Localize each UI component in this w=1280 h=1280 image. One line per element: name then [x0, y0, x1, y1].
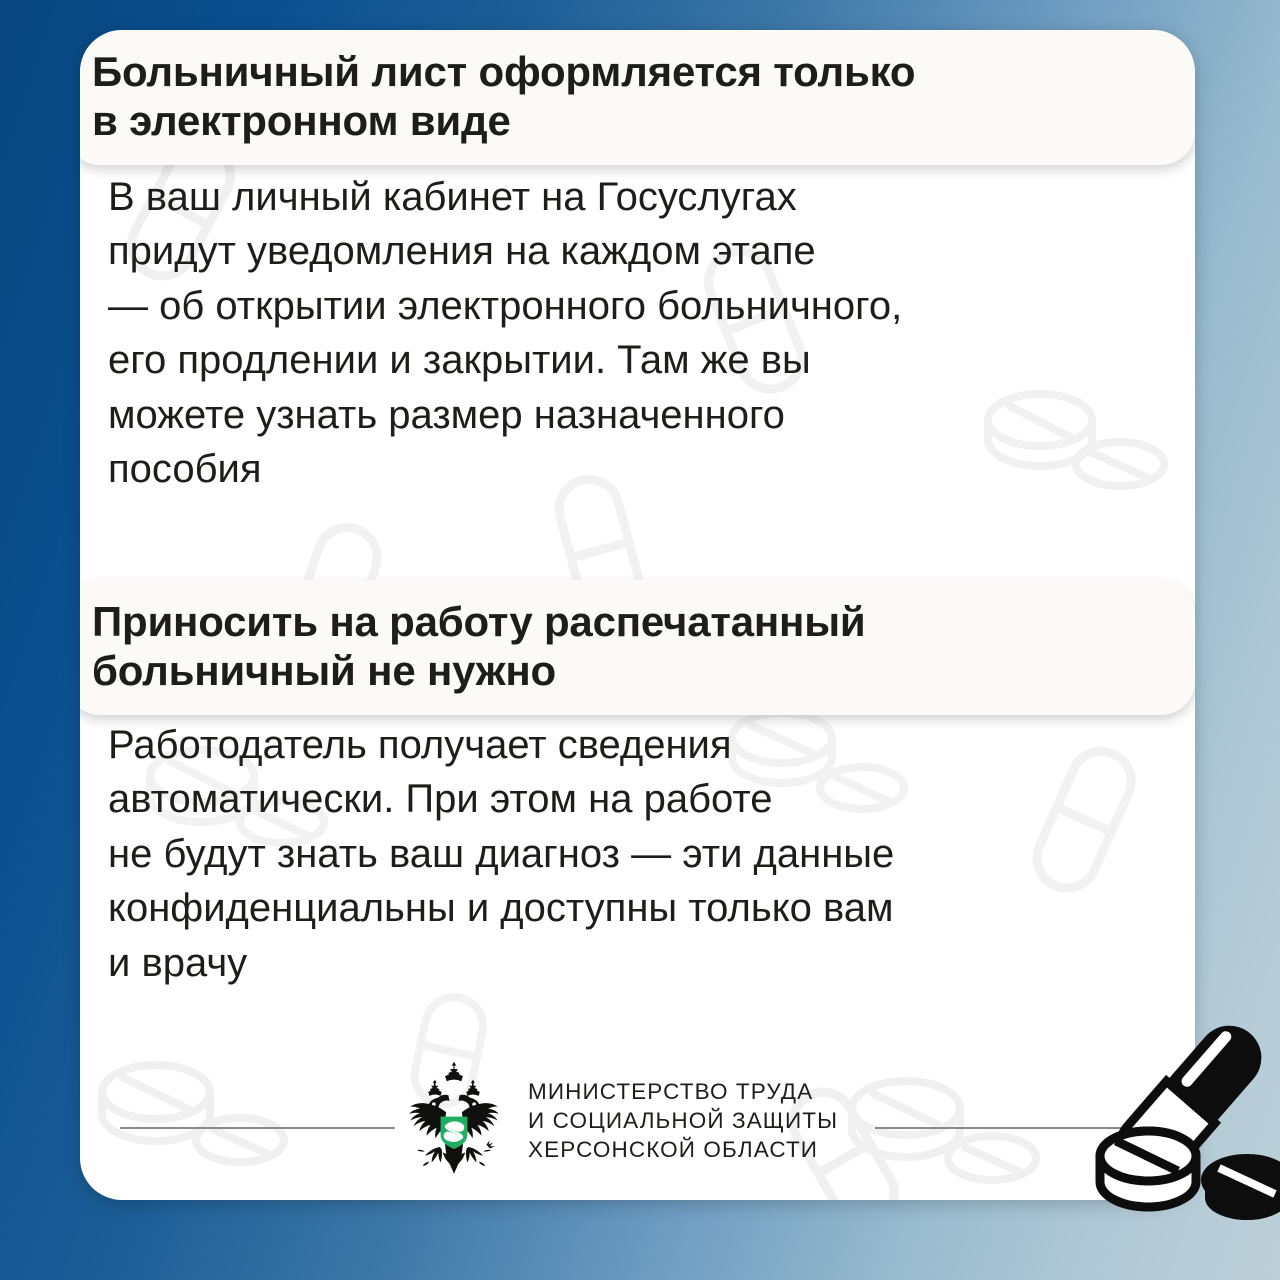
content-card: Больничный лист оформляется только в эле…: [80, 30, 1195, 1200]
section-heading-1: Больничный лист оформляется только в эле…: [80, 30, 1195, 165]
poster-background: Больничный лист оформляется только в эле…: [0, 0, 1280, 1280]
section-heading-2: Приносить на работу распечатанный больни…: [80, 580, 1195, 715]
section-heading-1-text: Больничный лист оформляется только в эле…: [92, 48, 1169, 145]
section-heading-2-text: Приносить на работу распечатанный больни…: [92, 598, 1169, 695]
footer: МИНИСТЕРСТВО ТРУДА И СОЦИАЛЬНОЙ ЗАЩИТЫ Х…: [80, 1040, 1195, 1200]
section-body-2: Работодатель получает сведения автоматич…: [108, 718, 1178, 990]
section-body-1: В ваш личный кабинет на Госуслугах приду…: [108, 170, 1178, 496]
footer-divider-left: [120, 1127, 395, 1129]
ministry-name: МИНИСТЕРСТВО ТРУДА И СОЦИАЛЬНОЙ ЗАЩИТЫ Х…: [528, 1077, 838, 1165]
double-headed-eagle-emblem: [398, 1058, 510, 1183]
shield: [441, 1117, 468, 1149]
ministry-logo: МИНИСТЕРСТВО ТРУДА И СОЦИАЛЬНОЙ ЗАЩИТЫ Х…: [398, 1058, 838, 1183]
capsule-and-tablets-icon: [1090, 1008, 1280, 1238]
